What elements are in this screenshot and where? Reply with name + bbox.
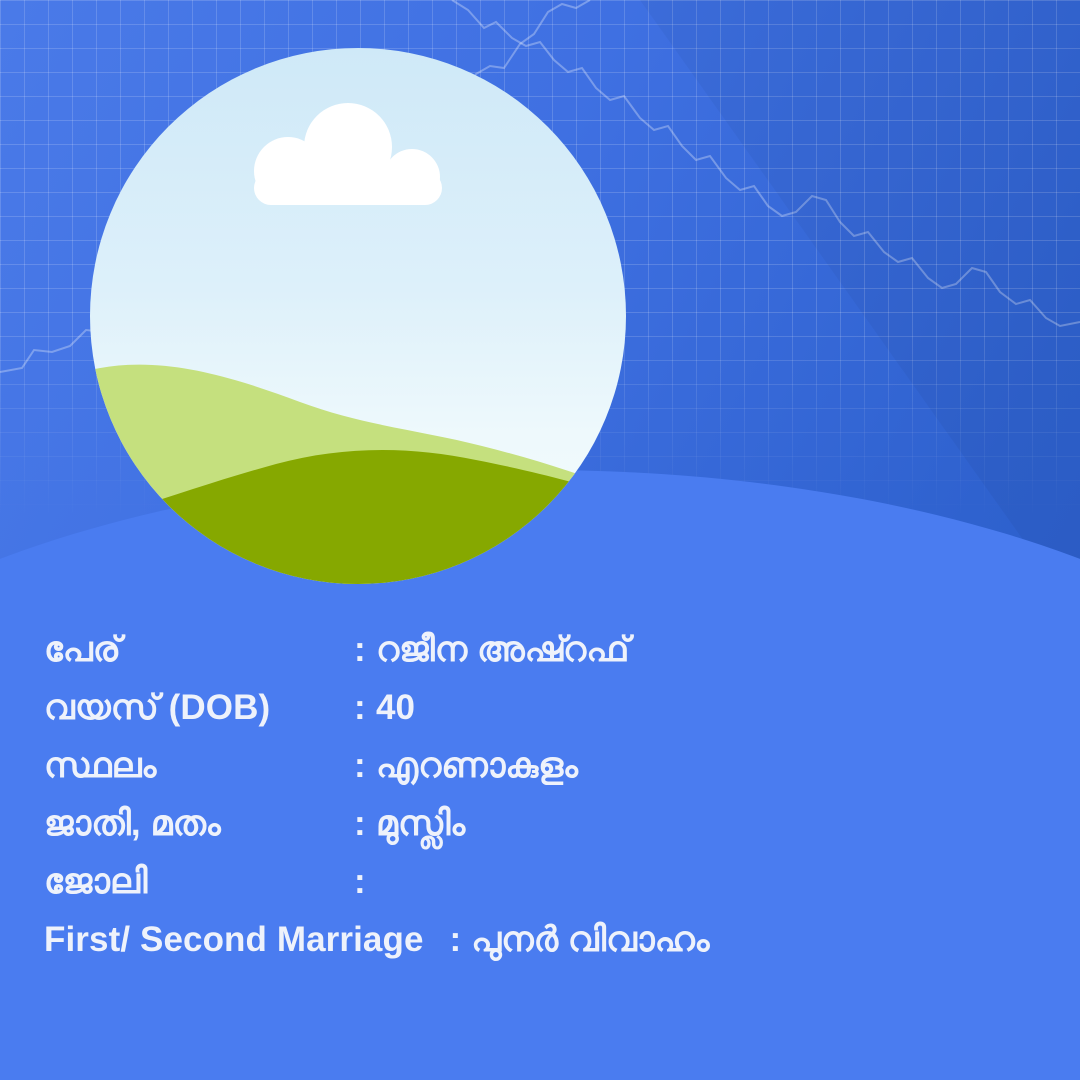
- detail-label-name: പേര്: [44, 630, 354, 670]
- detail-value-caste-religion: മുസ്ലിം: [376, 804, 1044, 844]
- detail-label-job: ജോലി: [44, 862, 354, 902]
- detail-row-place: സ്ഥലം : എറണാകുളം: [44, 746, 1044, 804]
- detail-label-place: സ്ഥലം: [44, 746, 354, 786]
- detail-separator-job: :: [354, 862, 376, 902]
- detail-value-marriage: പുനർ വിവാഹം: [471, 920, 1044, 960]
- detail-separator-name: :: [354, 630, 376, 670]
- detail-value-age: 40: [376, 688, 1044, 728]
- detail-label-caste-religion: ജാതി, മതം: [44, 804, 354, 844]
- detail-row-name: പേര് : റജീന അഷ്റഫ്: [44, 630, 1044, 688]
- cloud-icon: [240, 103, 456, 207]
- detail-row-marriage: First/ Second Marriage : പുനർ വിവാഹം: [44, 920, 1044, 978]
- detail-separator-age: :: [354, 688, 376, 728]
- detail-label-age: വയസ് (DOB): [44, 688, 354, 728]
- detail-value-name: റജീന അഷ്റഫ്: [376, 630, 1044, 670]
- detail-separator-caste-religion: :: [354, 804, 376, 844]
- detail-value-place: എറണാകുളം: [376, 746, 1044, 786]
- profile-card: പേര് : റജീന അഷ്റഫ് വയസ് (DOB) : 40 സ്ഥലം…: [0, 0, 1080, 1080]
- detail-row-job: ജോലി :: [44, 862, 1044, 920]
- detail-row-age: വയസ് (DOB) : 40: [44, 688, 1044, 746]
- detail-separator-place: :: [354, 746, 376, 786]
- landscape-avatar: [90, 48, 626, 584]
- profile-details: പേര് : റജീന അഷ്റഫ് വയസ് (DOB) : 40 സ്ഥലം…: [44, 630, 1044, 978]
- hill-dark-shape: [90, 354, 626, 584]
- detail-separator-marriage: :: [450, 920, 472, 960]
- detail-label-marriage: First/ Second Marriage: [44, 920, 450, 960]
- detail-row-caste-religion: ജാതി, മതം : മുസ്ലിം: [44, 804, 1044, 862]
